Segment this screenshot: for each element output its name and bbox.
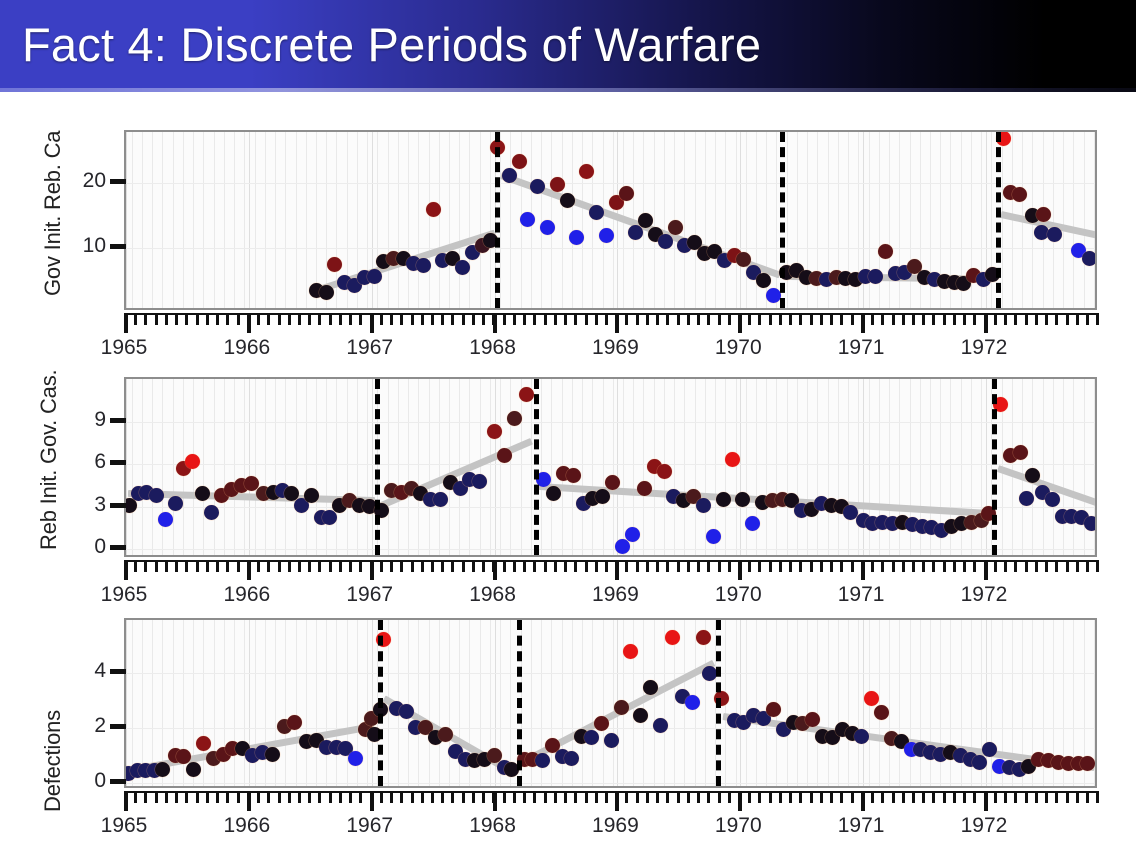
x-axis-tick-minor	[595, 791, 598, 803]
x-axis-tick-minor	[482, 560, 485, 572]
x-axis-tick-minor	[820, 313, 823, 325]
x-axis-tick-minor	[523, 791, 526, 803]
x-axis-tick-minor	[472, 560, 475, 572]
grid-line-vertical	[787, 620, 788, 786]
x-axis-tick-major	[984, 791, 988, 811]
x-axis-tick-minor	[544, 560, 547, 572]
x-axis-tick-minor	[636, 791, 639, 803]
x-axis-tick-label: 1968	[469, 814, 516, 838]
grid-line-vertical	[623, 379, 624, 555]
grid-line-vertical	[347, 379, 348, 555]
x-axis-tick-minor	[503, 313, 506, 325]
x-axis-tick-minor	[185, 560, 188, 572]
x-axis-tick-minor	[779, 560, 782, 572]
structural-break-line	[996, 132, 1001, 308]
grid-line-vertical	[592, 620, 593, 786]
panel-gov-init: Gov Init. Reb. Ca10201965196619671968196…	[0, 92, 1136, 342]
data-point	[426, 202, 441, 217]
structural-break-line	[378, 620, 383, 786]
x-axis-tick-minor	[206, 313, 209, 325]
data-point	[735, 492, 750, 507]
grid-line-vertical	[899, 132, 900, 308]
structural-break-line	[534, 379, 539, 555]
x-axis-tick-major	[984, 560, 988, 580]
grid-line-vertical	[991, 620, 992, 786]
grid-line-vertical	[244, 379, 245, 555]
x-axis-tick-minor	[892, 791, 895, 803]
grid-line-vertical	[244, 620, 245, 786]
grid-line-vertical	[603, 379, 604, 555]
data-point	[512, 154, 527, 169]
x-axis-tick-minor	[902, 313, 905, 325]
x-axis-tick-minor	[625, 560, 628, 572]
x-axis-tick-minor	[758, 791, 761, 803]
data-point	[1045, 492, 1060, 507]
x-axis-tick-minor	[1055, 313, 1058, 325]
x-axis-tick-minor	[441, 791, 444, 803]
data-point	[625, 527, 640, 542]
x-axis-tick-minor	[912, 313, 915, 325]
data-point	[433, 492, 448, 507]
data-point	[874, 705, 889, 720]
x-axis-tick-minor	[625, 313, 628, 325]
x-axis-tick-minor	[646, 560, 649, 572]
x-axis-tick-minor	[462, 560, 465, 572]
data-point	[367, 269, 382, 284]
grid-line-vertical	[889, 132, 890, 308]
x-axis-tick-minor	[1086, 313, 1089, 325]
grid-line-vertical	[449, 132, 450, 308]
x-axis-tick-minor	[707, 313, 710, 325]
grid-line-vertical	[429, 379, 430, 555]
grid-line-vertical	[224, 379, 225, 555]
x-axis-tick-minor	[851, 791, 854, 803]
x-axis-tick-minor	[830, 791, 833, 803]
data-point	[657, 464, 672, 479]
grid-line-vertical-major	[126, 132, 127, 308]
grid-line-vertical	[152, 620, 153, 786]
grid-line-vertical	[326, 620, 327, 786]
x-axis	[124, 560, 1097, 582]
x-axis-tick-minor	[1086, 560, 1089, 572]
x-axis-tick-minor	[267, 313, 270, 325]
grid-line-vertical	[889, 620, 890, 786]
x-axis-tick-minor	[830, 560, 833, 572]
grid-line-vertical	[531, 379, 532, 555]
x-axis-tick-major	[738, 313, 742, 333]
x-axis-tick-minor	[902, 791, 905, 803]
x-axis-tick-minor	[482, 313, 485, 325]
grid-line-vertical	[1094, 132, 1095, 308]
x-axis-tick-minor	[472, 313, 475, 325]
x-axis-tick-minor	[503, 791, 506, 803]
grid-line-vertical	[214, 132, 215, 308]
x-axis-tick-minor	[697, 791, 700, 803]
data-point	[155, 762, 170, 777]
x-axis-tick-label: 1970	[715, 814, 762, 838]
x-axis-tick-minor	[1004, 313, 1007, 325]
x-axis-tick-minor	[625, 791, 628, 803]
x-axis-tick-minor	[472, 791, 475, 803]
grid-line-vertical	[592, 132, 593, 308]
x-axis-tick-minor	[932, 313, 935, 325]
x-axis-tick-minor	[748, 791, 751, 803]
grid-line-vertical	[408, 132, 409, 308]
x-axis-tick-minor	[1025, 791, 1028, 803]
grid-line-vertical	[654, 620, 655, 786]
data-point	[614, 700, 629, 715]
data-point	[416, 258, 431, 273]
x-axis-tick-minor	[288, 560, 291, 572]
grid-line-vertical	[203, 620, 204, 786]
grid-line-vertical	[316, 379, 317, 555]
x-axis-tick-minor	[728, 560, 731, 572]
data-point	[633, 708, 648, 723]
x-axis-tick-minor	[1076, 791, 1079, 803]
grid-line-vertical	[551, 620, 552, 786]
grid-line-vertical	[572, 132, 573, 308]
data-point	[399, 704, 414, 719]
grid-line-vertical	[664, 132, 665, 308]
y-axis-tick-label: 6	[64, 450, 106, 474]
y-axis-tick-label: 0	[64, 769, 106, 793]
grid-line-vertical	[449, 620, 450, 786]
x-axis-tick-minor	[257, 560, 260, 572]
grid-line-vertical	[429, 620, 430, 786]
grid-line-vertical	[1073, 379, 1074, 555]
grid-line-vertical	[510, 379, 511, 555]
data-point	[615, 539, 630, 554]
x-axis-tick-minor	[400, 791, 403, 803]
x-axis-tick-minor	[206, 791, 209, 803]
x-axis-tick-minor	[943, 791, 946, 803]
x-axis-tick-minor	[871, 791, 874, 803]
x-axis-tick-minor	[441, 313, 444, 325]
x-axis-tick-minor	[851, 560, 854, 572]
grid-line-vertical	[132, 132, 133, 308]
x-axis-tick-minor	[554, 560, 557, 572]
grid-line-vertical	[1063, 379, 1064, 555]
grid-line-vertical	[603, 132, 604, 308]
x-axis-tick-minor	[605, 313, 608, 325]
data-point	[589, 205, 604, 220]
data-point	[854, 729, 869, 744]
grid-line-vertical	[500, 379, 501, 555]
x-axis-tick-minor	[1014, 560, 1017, 572]
grid-line-vertical	[173, 132, 174, 308]
x-axis-tick-minor	[206, 560, 209, 572]
x-axis-tick-minor	[533, 313, 536, 325]
grid-line-vertical	[285, 379, 286, 555]
x-axis-tick-minor	[1014, 313, 1017, 325]
grid-line-vertical	[695, 132, 696, 308]
y-axis-tick-label: 20	[64, 169, 106, 193]
x-axis-tick-minor	[421, 560, 424, 572]
x-axis-tick-minor	[390, 560, 393, 572]
x-axis-tick-minor	[851, 313, 854, 325]
x-axis-tick-minor	[963, 560, 966, 572]
x-axis-tick-minor	[237, 313, 240, 325]
grid-line-vertical-major	[126, 379, 127, 555]
data-point	[595, 489, 610, 504]
x-axis-tick-minor	[1076, 313, 1079, 325]
x-axis-tick-minor	[1066, 560, 1069, 572]
data-point	[623, 644, 638, 659]
grid-line-vertical	[439, 379, 440, 555]
x-axis-tick-minor	[298, 313, 301, 325]
x-axis-tick-minor	[339, 560, 342, 572]
page-title: Fact 4: Discrete Periods of Warfare	[22, 17, 761, 72]
grid-line-vertical	[725, 132, 726, 308]
grid-line-vertical	[408, 620, 409, 786]
x-axis-tick-minor	[636, 313, 639, 325]
x-axis-tick-minor	[758, 313, 761, 325]
x-axis-tick-minor	[523, 560, 526, 572]
data-point	[668, 220, 683, 235]
x-axis-tick-label: 1969	[592, 814, 639, 838]
x-axis-tick-minor	[451, 313, 454, 325]
x-axis-tick-minor	[912, 560, 915, 572]
x-axis-tick-minor	[196, 560, 199, 572]
data-point	[327, 257, 342, 272]
x-axis-tick-minor	[165, 791, 168, 803]
y-axis-label: Gov Init. Reb. Ca	[40, 96, 66, 296]
x-axis-tick-minor	[411, 560, 414, 572]
x-axis-tick-minor	[339, 791, 342, 803]
x-axis-tick-minor	[902, 560, 905, 572]
grid-line-vertical	[858, 379, 859, 555]
data-point	[1047, 227, 1062, 242]
data-point	[265, 747, 280, 762]
grid-line-vertical	[296, 379, 297, 555]
grid-line-vertical	[551, 132, 552, 308]
x-axis-tick-minor	[707, 791, 710, 803]
grid-line-vertical	[684, 379, 685, 555]
x-axis-tick-minor	[840, 560, 843, 572]
grid-line-vertical	[521, 379, 522, 555]
x-axis-tick-minor	[533, 560, 536, 572]
grid-line-vertical	[715, 132, 716, 308]
x-axis-tick-minor	[451, 791, 454, 803]
grid-line-vertical	[736, 132, 737, 308]
grid-line-vertical	[674, 620, 675, 786]
x-axis-tick-minor	[666, 791, 669, 803]
data-point	[195, 486, 210, 501]
x-axis-tick-minor	[144, 560, 147, 572]
grid-line-vertical	[316, 620, 317, 786]
grid-line-vertical	[214, 379, 215, 555]
grid-line-vertical	[244, 132, 245, 308]
x-axis-tick-minor	[840, 791, 843, 803]
x-axis-tick-minor	[318, 313, 321, 325]
x-axis-tick-minor	[308, 560, 311, 572]
grid-line-vertical	[142, 132, 143, 308]
grid-line-vertical	[183, 132, 184, 308]
grid-line-vertical	[766, 620, 767, 786]
x-axis-tick-minor	[677, 313, 680, 325]
x-axis-tick-minor	[237, 791, 240, 803]
x-axis-tick-minor	[892, 560, 895, 572]
x-axis-tick-minor	[411, 791, 414, 803]
x-axis-tick-minor	[165, 560, 168, 572]
data-point	[530, 179, 545, 194]
x-axis-tick-minor	[1035, 560, 1038, 572]
x-axis-tick-minor	[718, 313, 721, 325]
grid-line-vertical	[930, 620, 931, 786]
x-axis-tick-minor	[503, 560, 506, 572]
grid-line-horizontal	[126, 183, 1095, 184]
x-axis-tick-minor	[1025, 560, 1028, 572]
x-axis-tick-minor	[769, 560, 772, 572]
grid-line-vertical	[306, 620, 307, 786]
x-axis-tick-minor	[769, 791, 772, 803]
data-point	[868, 269, 883, 284]
data-point	[658, 234, 673, 249]
grid-line-vertical	[224, 132, 225, 308]
grid-line-vertical	[234, 379, 235, 555]
grid-line-horizontal	[126, 248, 1095, 249]
x-axis-tick-minor	[554, 791, 557, 803]
x-axis-tick-minor	[728, 313, 731, 325]
x-axis-tick-major	[124, 560, 128, 580]
x-axis-tick-minor	[666, 313, 669, 325]
y-axis-tick	[110, 724, 126, 729]
x-axis-tick-major	[370, 791, 374, 811]
x-axis-tick-minor	[687, 560, 690, 572]
grid-line-vertical	[705, 379, 706, 555]
x-axis-tick-minor	[1014, 791, 1017, 803]
x-axis-tick-minor	[728, 791, 731, 803]
grid-line-vertical	[326, 132, 327, 308]
grid-line-vertical	[296, 132, 297, 308]
x-axis-tick-major	[124, 313, 128, 333]
data-point	[1012, 187, 1027, 202]
x-axis-tick-minor	[441, 560, 444, 572]
x-axis-tick-minor	[585, 791, 588, 803]
data-point	[579, 164, 594, 179]
data-point	[1013, 445, 1028, 460]
x-axis-tick-minor	[216, 791, 219, 803]
x-axis-tick-minor	[656, 791, 659, 803]
x-axis-tick-minor	[585, 560, 588, 572]
x-axis-tick-minor	[421, 791, 424, 803]
grid-line-vertical	[469, 132, 470, 308]
x-axis-tick-minor	[390, 313, 393, 325]
x-axis-tick-minor	[359, 560, 362, 572]
grid-line-vertical	[357, 379, 358, 555]
grid-line-vertical	[664, 620, 665, 786]
x-axis-tick-minor	[595, 313, 598, 325]
x-axis-tick-minor	[1086, 791, 1089, 803]
x-axis-tick-minor	[257, 313, 260, 325]
grid-line-vertical	[797, 132, 798, 308]
data-point	[1084, 516, 1097, 531]
x-axis-tick-major	[861, 313, 865, 333]
x-axis-tick-minor	[646, 791, 649, 803]
x-axis-tick-minor	[748, 560, 751, 572]
data-point	[550, 177, 565, 192]
x-axis-tick-minor	[144, 791, 147, 803]
grid-line-vertical	[787, 132, 788, 308]
x-axis-tick-minor	[1025, 313, 1028, 325]
x-axis-tick-minor	[533, 791, 536, 803]
grid-line-vertical	[797, 379, 798, 555]
x-axis-tick-minor	[380, 313, 383, 325]
data-point	[745, 516, 760, 531]
grid-line-vertical	[203, 379, 204, 555]
grid-line-vertical	[142, 379, 143, 555]
grid-line-vertical	[848, 379, 849, 555]
x-axis-tick-minor	[257, 791, 260, 803]
x-axis-tick-minor	[554, 313, 557, 325]
grid-line-vertical	[429, 132, 430, 308]
x-axis-tick-minor	[881, 560, 884, 572]
grid-line-vertical	[1053, 132, 1054, 308]
y-axis-tick	[110, 460, 126, 465]
grid-line-vertical	[408, 379, 409, 555]
grid-line-vertical	[541, 379, 542, 555]
data-point	[472, 474, 487, 489]
data-point	[716, 492, 731, 507]
x-axis-tick-minor	[380, 791, 383, 803]
grid-line-vertical	[705, 132, 706, 308]
y-axis-tick	[110, 244, 126, 249]
grid-line-vertical	[725, 379, 726, 555]
y-axis-tick	[110, 179, 126, 184]
grid-line-vertical	[1043, 379, 1044, 555]
x-axis-tick-minor	[134, 313, 137, 325]
grid-line-vertical	[910, 620, 911, 786]
x-axis-tick-minor	[973, 560, 976, 572]
chart-figure: Gov Init. Reb. Ca10201965196619671968196…	[0, 92, 1136, 852]
x-axis-tick-minor	[748, 313, 751, 325]
x-axis-tick-minor	[196, 313, 199, 325]
grid-line-vertical-major	[249, 379, 250, 555]
x-axis-tick-minor	[175, 791, 178, 803]
grid-line-vertical	[336, 379, 337, 555]
x-axis-tick-minor	[267, 560, 270, 572]
data-point	[725, 452, 740, 467]
x-axis-tick-minor	[267, 791, 270, 803]
grid-line-vertical	[490, 132, 491, 308]
x-axis-tick-minor	[779, 313, 782, 325]
grid-line-vertical	[142, 620, 143, 786]
grid-line-vertical	[705, 620, 706, 786]
x-axis-tick-minor	[308, 313, 311, 325]
x-axis-tick-minor	[1055, 791, 1058, 803]
grid-line-vertical	[265, 379, 266, 555]
grid-line-vertical-major	[740, 132, 741, 308]
data-point	[502, 168, 517, 183]
x-axis-tick-minor	[298, 791, 301, 803]
grid-line-vertical	[1012, 379, 1013, 555]
x-axis-tick-minor	[329, 313, 332, 325]
x-axis-tick-minor	[840, 313, 843, 325]
grid-line-vertical	[132, 620, 133, 786]
x-axis-tick-minor	[1055, 560, 1058, 572]
grid-line-vertical	[418, 379, 419, 555]
plot-area	[124, 618, 1097, 788]
x-axis-tick-minor	[349, 791, 352, 803]
data-point	[637, 481, 652, 496]
x-axis-tick-minor	[451, 560, 454, 572]
grid-line-vertical	[1073, 132, 1074, 308]
data-point	[696, 498, 711, 513]
x-axis-tick-minor	[134, 791, 137, 803]
y-axis-label: Reb Init. Gov. Cas.	[36, 350, 62, 550]
grid-line-vertical	[817, 620, 818, 786]
x-axis-tick-minor	[155, 560, 158, 572]
